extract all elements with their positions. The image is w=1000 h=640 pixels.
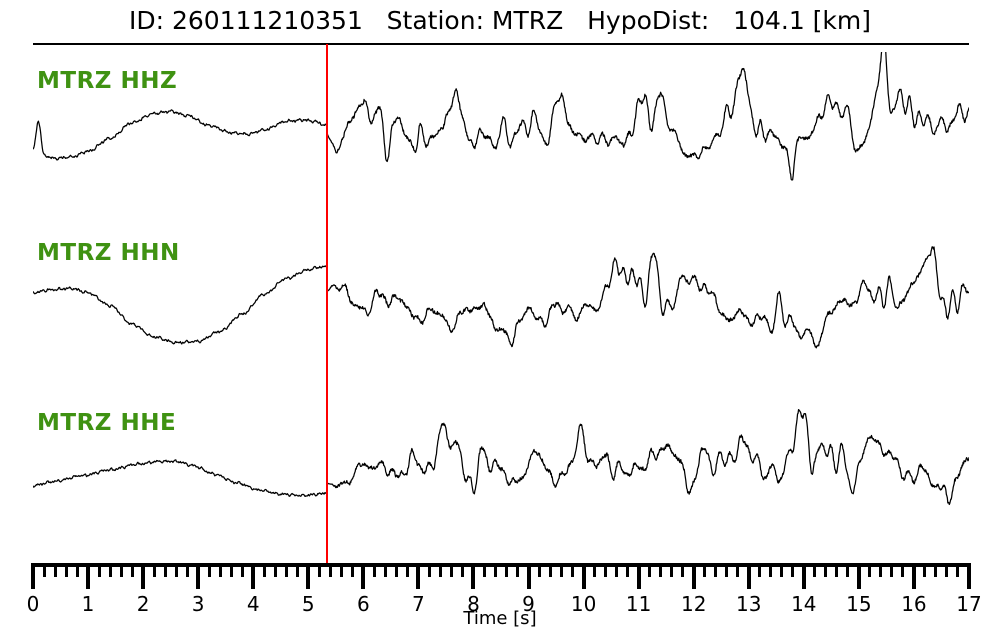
axis-tick-major <box>416 563 420 589</box>
axis-tick-minor <box>538 563 541 577</box>
axis-tick-minor <box>395 563 398 577</box>
axis-tick-minor <box>285 563 288 577</box>
axis-tick-minor <box>593 563 596 577</box>
channel-label-hhn: MTRZ HHN <box>37 240 180 266</box>
axis-tick-major <box>86 563 90 589</box>
axis-tick-major <box>31 563 35 589</box>
seismogram-figure: ID: 260111210351 Station: MTRZ HypoDist:… <box>0 0 1000 640</box>
axis-tick-minor <box>505 563 508 577</box>
axis-tick-major <box>912 563 916 589</box>
axis-tick-minor <box>65 563 68 577</box>
waveform-plot-area: MTRZ HHZ MTRZ HHN MTRZ HHE <box>33 44 969 553</box>
axis-tick-minor <box>736 563 739 577</box>
axis-tick-minor <box>131 563 134 577</box>
axis-tick-minor <box>98 563 101 577</box>
axis-tick-minor <box>714 563 717 577</box>
axis-tick-minor <box>890 563 893 577</box>
axis-tick-minor <box>54 563 57 577</box>
axis-tick-major <box>857 563 861 589</box>
time-axis-spine <box>33 563 969 567</box>
axis-tick-minor <box>483 563 486 577</box>
axis-tick-major <box>251 563 255 589</box>
axis-tick-minor <box>956 563 959 577</box>
axis-tick-minor <box>659 563 662 577</box>
axis-tick-minor <box>43 563 46 577</box>
axis-tick-minor <box>153 563 156 577</box>
axis-tick-minor <box>549 563 552 577</box>
axis-tick-minor <box>494 563 497 577</box>
axis-tick-minor <box>824 563 827 577</box>
axis-tick-minor <box>758 563 761 577</box>
axis-tick-major <box>141 563 145 589</box>
channel-label-hhz: MTRZ HHZ <box>37 68 177 94</box>
axis-tick-minor <box>263 563 266 577</box>
axis-tick-minor <box>329 563 332 577</box>
axis-tick-minor <box>868 563 871 577</box>
axis-tick-minor <box>945 563 948 577</box>
axis-tick-minor <box>560 563 563 577</box>
axis-tick-minor <box>241 563 244 577</box>
axis-tick-major <box>196 563 200 589</box>
axis-tick-minor <box>703 563 706 577</box>
axis-tick-minor <box>109 563 112 577</box>
axis-tick-major <box>306 563 310 589</box>
axis-tick-minor <box>516 563 519 577</box>
x-axis-label: Time [s] <box>0 608 1000 629</box>
axis-tick-minor <box>615 563 618 577</box>
axis-tick-minor <box>934 563 937 577</box>
axis-tick-minor <box>879 563 882 577</box>
figure-title: ID: 260111210351 Station: MTRZ HypoDist:… <box>0 6 1000 35</box>
axis-tick-minor <box>670 563 673 577</box>
axis-tick-minor <box>648 563 651 577</box>
phase-pick-line <box>326 44 328 563</box>
axis-tick-minor <box>901 563 904 577</box>
axis-tick-minor <box>219 563 222 577</box>
axis-tick-minor <box>274 563 277 577</box>
axis-tick-minor <box>725 563 728 577</box>
axis-tick-minor <box>780 563 783 577</box>
channel-label-hhe: MTRZ HHE <box>37 410 176 436</box>
axis-tick-minor <box>318 563 321 577</box>
axis-tick-minor <box>604 563 607 577</box>
axis-tick-major <box>747 563 751 589</box>
axis-tick-minor <box>76 563 79 577</box>
axis-tick-minor <box>461 563 464 577</box>
axis-tick-minor <box>571 563 574 577</box>
axis-tick-minor <box>791 563 794 577</box>
axis-tick-minor <box>626 563 629 577</box>
axis-tick-minor <box>835 563 838 577</box>
axis-tick-minor <box>373 563 376 577</box>
axis-tick-major <box>361 563 365 589</box>
axis-tick-minor <box>120 563 123 577</box>
axis-tick-minor <box>296 563 299 577</box>
axis-tick-minor <box>428 563 431 577</box>
axis-tick-minor <box>230 563 233 577</box>
axis-tick-major <box>692 563 696 589</box>
axis-tick-minor <box>450 563 453 577</box>
axis-tick-minor <box>681 563 684 577</box>
axis-tick-minor <box>175 563 178 577</box>
axis-tick-minor <box>384 563 387 577</box>
axis-tick-minor <box>439 563 442 577</box>
axis-tick-minor <box>164 563 167 577</box>
axis-tick-major <box>527 563 531 589</box>
axis-tick-major <box>637 563 641 589</box>
axis-tick-minor <box>351 563 354 577</box>
axis-tick-minor <box>813 563 816 577</box>
axis-tick-major <box>967 563 971 589</box>
axis-tick-minor <box>406 563 409 577</box>
axis-tick-minor <box>769 563 772 577</box>
axis-tick-major <box>471 563 475 589</box>
axis-tick-minor <box>846 563 849 577</box>
axis-tick-major <box>802 563 806 589</box>
axis-tick-minor <box>186 563 189 577</box>
axis-tick-minor <box>923 563 926 577</box>
axis-tick-major <box>582 563 586 589</box>
axis-tick-minor <box>208 563 211 577</box>
axis-tick-minor <box>340 563 343 577</box>
